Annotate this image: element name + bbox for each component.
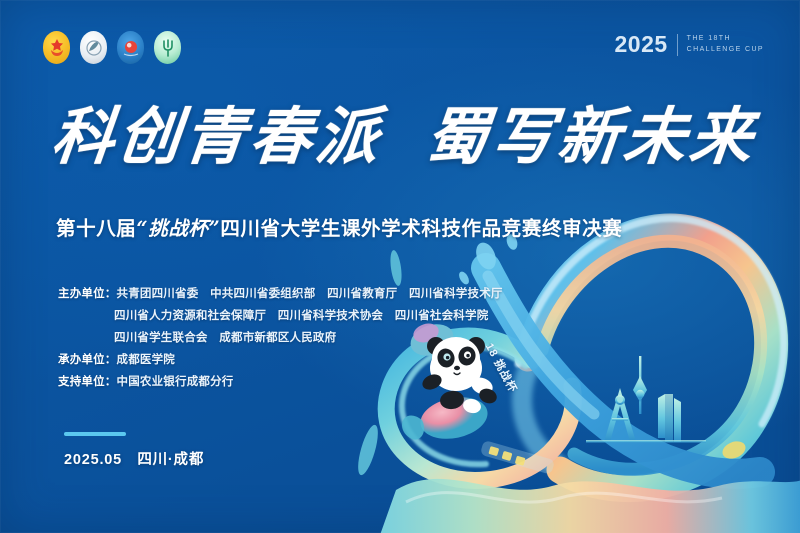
undertaker-label: 承办单位： [58,354,117,366]
subhead-suffix: 四川省大学生课外学术科技作品竞赛终审决赛 [220,218,622,240]
sichuan-organization-department-emblem [80,31,107,64]
headline-right: 蜀写新未来 [423,106,760,168]
host-line-1: 共青团四川省委 中共四川省委组织部 四川省教育厅 四川省科学技术厅 [117,288,503,300]
organizer-block: 主办单位：共青团四川省委 中共四川省委组织部 四川省教育厅 四川省科学技术厅 四… [58,283,503,393]
year-mark-line2: CHALLENGE CUP [687,45,764,55]
communist-youth-league-emblem [43,31,70,64]
emblem-row [43,31,181,64]
supporter-value: 中国农业银行成都分行 [117,376,234,388]
footer-block: 2025.05 四川·成都 [64,432,204,469]
headline-left: 科创青春派 [49,106,386,168]
accent-bar [64,432,126,436]
year-label: 2025 [615,33,668,56]
supporter-row: 支持单位：中国农业银行成都分行 [58,371,503,393]
undertaker-row: 承办单位：成都医学院 [58,349,503,371]
subhead-quoted: “挑战杯” [136,217,220,240]
host-line-3: 四川省学生联合会 成都市新都区人民政府 [114,332,336,344]
host-row-2: 四川省人力资源和社会保障厅 四川省科学技术协会 四川省社会科学院 [58,305,503,327]
host-label: 主办单位： [58,288,117,300]
sichuan-science-technology-emblem [154,31,181,64]
host-row-3: 四川省学生联合会 成都市新都区人民政府 [58,327,503,349]
bottom-wave [380,479,800,533]
poster-canvas: 18 挑战杯 [0,0,800,533]
host-row-1: 主办单位：共青团四川省委 中共四川省委组织部 四川省教育厅 四川省科学技术厅 [58,283,503,305]
date-location: 2025.05 四川·成都 [64,448,204,469]
undertaker-value: 成都医学院 [117,354,176,366]
year-mark-subtitle: THE 18TH CHALLENGE CUP [687,34,764,54]
supporter-label: 支持单位： [58,376,117,388]
host-line-2: 四川省人力资源和社会保障厅 四川省科学技术协会 四川省社会科学院 [114,310,488,322]
page-title: 第十八届“挑战杯”四川省大学生课外学术科技作品竞赛终审决赛 [56,212,622,241]
year-divider [677,34,678,56]
sichuan-education-department-emblem [117,31,144,64]
year-mark-line1: THE 18TH [687,34,764,44]
year-mark: 2025 THE 18TH CHALLENGE CUP [615,33,765,56]
headline: 科创青春派 蜀写新未来 [52,106,756,168]
subhead-prefix: 第十八届 [56,218,136,240]
